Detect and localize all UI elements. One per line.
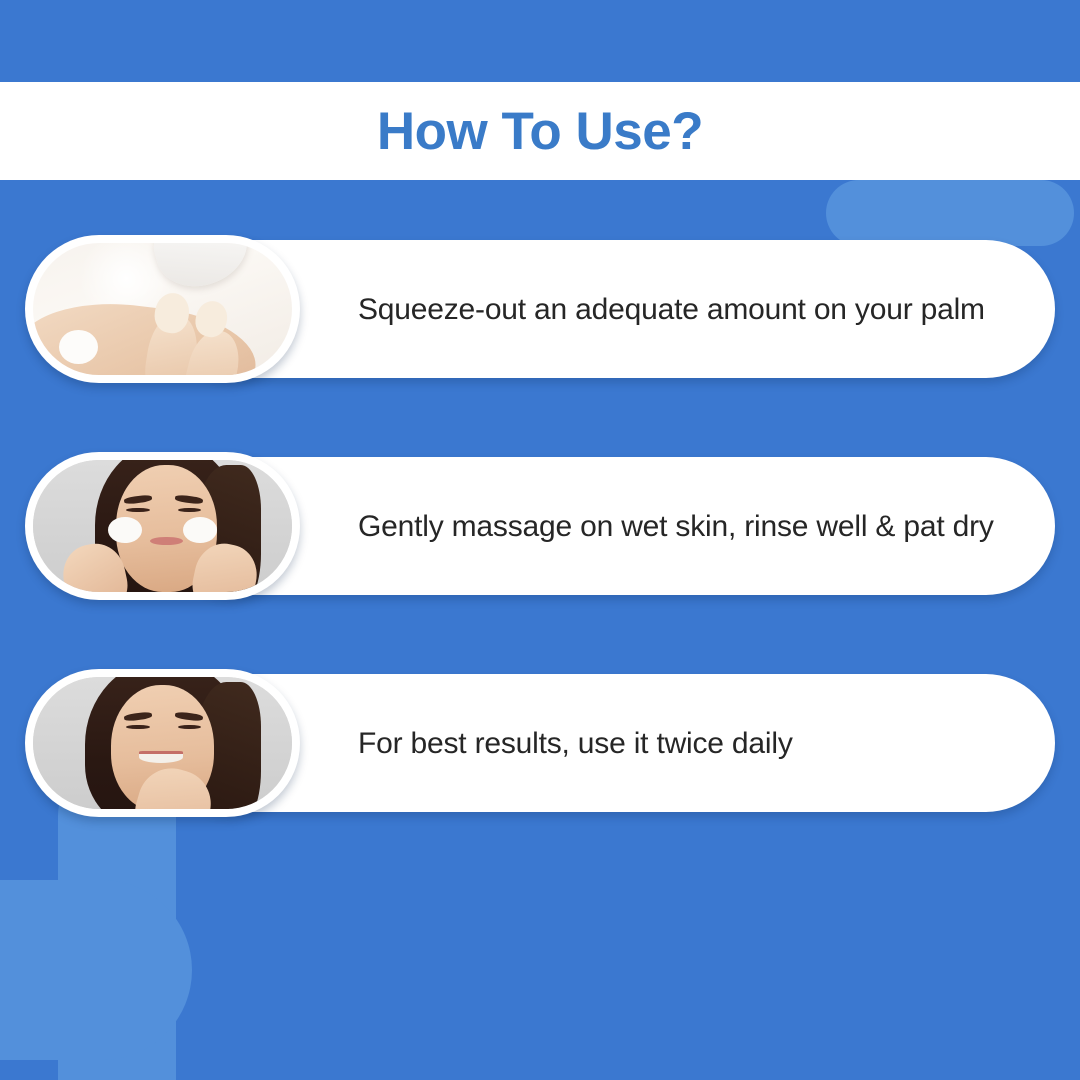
list-item: Gently massage on wet skin, rinse well &… [25, 452, 1055, 600]
step-thumbnail [25, 452, 300, 600]
step-text: For best results, use it twice daily [358, 724, 853, 763]
how-to-use-infographic: How To Use? Squeeze-out an adequate amou… [0, 0, 1080, 1080]
step-thumbnail [25, 669, 300, 817]
woman-massaging-cream-on-face-image [33, 460, 292, 592]
smiling-woman-touching-cheek-image [33, 677, 292, 809]
step-text: Squeeze-out an adequate amount on your p… [358, 290, 1045, 329]
list-item: Squeeze-out an adequate amount on your p… [25, 235, 1055, 383]
hand-squeezing-cream-onto-palm-image [33, 243, 292, 375]
step-text: Gently massage on wet skin, rinse well &… [358, 507, 1054, 546]
cream-blob [59, 330, 98, 364]
steps-list: Squeeze-out an adequate amount on your p… [0, 0, 1080, 1080]
list-item: For best results, use it twice daily [25, 669, 1055, 817]
step-thumbnail [25, 235, 300, 383]
